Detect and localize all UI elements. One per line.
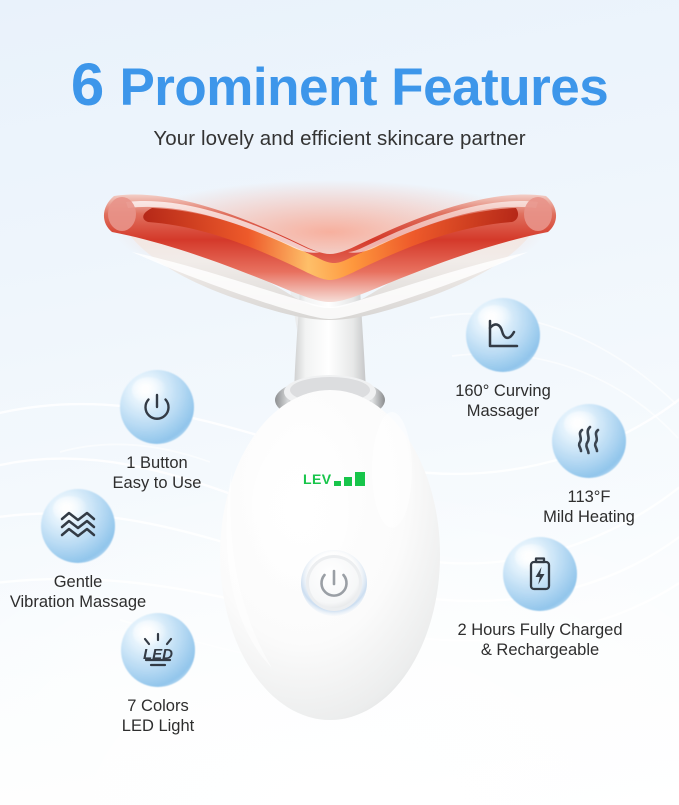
feature-button: 1 Button Easy to Use [57, 370, 257, 493]
feature-curving: 160° Curving Massager [403, 298, 603, 421]
battery-charging-icon [503, 537, 577, 611]
feature-badge [466, 298, 540, 372]
feature-badge [503, 537, 577, 611]
level-bar-1 [334, 481, 341, 486]
power-icon [120, 370, 194, 444]
feature-caption: 7 Colors LED Light [58, 696, 258, 736]
device-level-label: LEV [303, 472, 331, 486]
feature-caption: 2 Hours Fully Charged & Rechargeable [440, 620, 640, 660]
svg-text:LED: LED [143, 646, 173, 663]
product-feature-poster: 6 Prominent Features Your lovely and eff… [0, 0, 679, 805]
feature-caption: Gentle Vibration Massage [0, 572, 178, 612]
poster-header: 6 Prominent Features Your lovely and eff… [0, 0, 679, 151]
feature-badge [120, 370, 194, 444]
feature-badge [552, 404, 626, 478]
page-subtitle: Your lovely and efficient skincare partn… [0, 116, 679, 151]
feature-badge [41, 489, 115, 563]
device-power-icon [322, 571, 347, 596]
feature-badge: LED [121, 613, 195, 687]
led-light-icon: LED [121, 613, 195, 687]
feature-led: LED 7 Colors LED Light [58, 613, 258, 736]
level-bar-3 [355, 472, 365, 486]
feature-caption: 113°F Mild Heating [489, 487, 679, 527]
title-text: Prominent Features [119, 58, 608, 117]
feature-caption: 1 Button Easy to Use [57, 453, 257, 493]
curve-chart-icon [466, 298, 540, 372]
vibration-waves-icon [41, 489, 115, 563]
device-level-display: LEV [303, 472, 365, 486]
title-numeral: 6 [71, 51, 105, 118]
feature-heating: 113°F Mild Heating [489, 404, 679, 527]
feature-vibration: Gentle Vibration Massage [0, 489, 178, 612]
level-bar-2 [344, 477, 352, 486]
page-title: 6 Prominent Features [0, 0, 679, 116]
heat-waves-icon [552, 404, 626, 478]
feature-battery: 2 Hours Fully Charged & Rechargeable [440, 537, 640, 660]
